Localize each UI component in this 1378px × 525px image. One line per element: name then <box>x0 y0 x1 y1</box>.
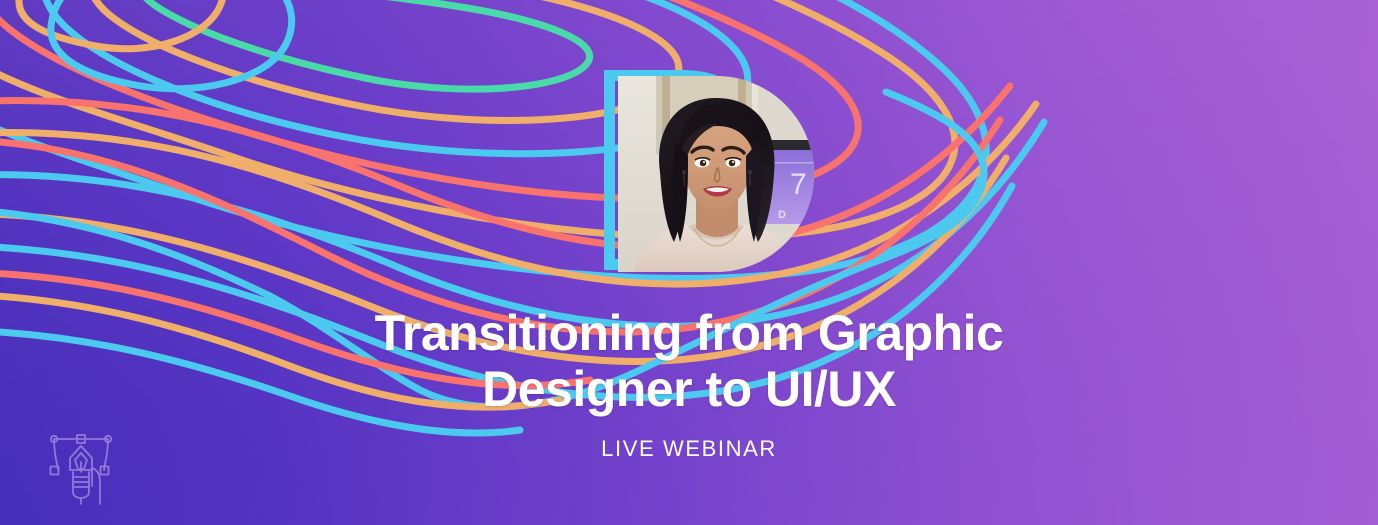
headline-line-1: Transitioning from Graphic <box>375 305 1004 361</box>
headline-line-2: Designer to UI/UX <box>0 361 1378 417</box>
contour-teal-1 <box>136 0 590 89</box>
speaker-photo: 7 D <box>604 70 819 272</box>
pen-tool-icon <box>40 424 122 506</box>
svg-text:7: 7 <box>790 168 807 201</box>
subtitle: LIVE WEBINAR <box>0 436 1378 462</box>
webinar-banner: 7 D <box>0 0 1378 525</box>
speaker-portrait-illustration: 7 D <box>618 76 814 272</box>
page-title: Transitioning from Graphic Designer to U… <box>0 305 1378 417</box>
photo-clip: 7 D <box>618 76 814 272</box>
svg-text:D: D <box>778 209 786 221</box>
